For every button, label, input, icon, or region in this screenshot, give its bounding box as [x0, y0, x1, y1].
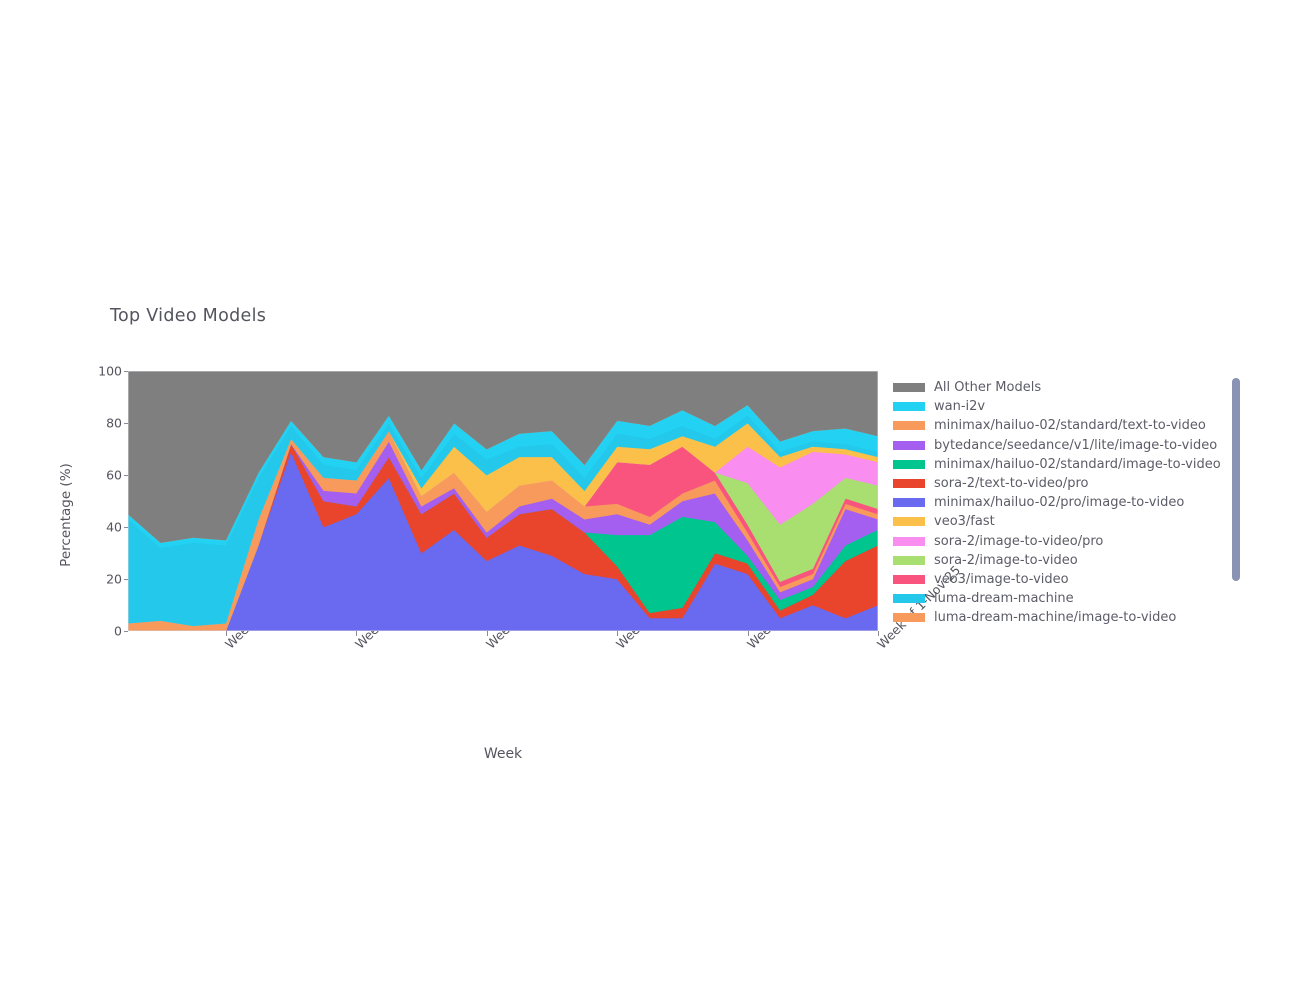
stacked-area-plot — [128, 371, 878, 631]
y-tick-label: 40 — [106, 520, 122, 535]
y-axis-ticks: 020406080100 — [88, 0, 122, 995]
x-tick-mark — [878, 631, 879, 636]
legend-item-label: minimax/hailuo-02/pro/image-to-video — [934, 496, 1184, 509]
y-tick-label: 80 — [106, 416, 122, 431]
y-tick-mark — [124, 475, 128, 476]
legend-item-label: minimax/hailuo-02/standard/text-to-video — [934, 419, 1206, 432]
legend-item-label: luma-dream-machine/image-to-video — [934, 611, 1176, 624]
legend-color-swatch — [893, 556, 925, 565]
legend-color-swatch — [893, 498, 925, 507]
legend-item[interactable]: veo3/image-to-video — [893, 570, 1241, 589]
legend-item[interactable]: luma-dream-machine/image-to-video — [893, 608, 1241, 627]
plot-area — [128, 371, 878, 631]
y-axis-title: Percentage (%) — [58, 430, 74, 600]
legend-color-swatch — [893, 383, 925, 392]
legend-color-swatch — [893, 537, 925, 546]
legend-color-swatch — [893, 441, 925, 450]
legend-item[interactable]: minimax/hailuo-02/pro/image-to-video — [893, 493, 1241, 512]
legend-item[interactable]: All Other Models — [893, 378, 1241, 397]
legend-item[interactable]: luma-dream-machine — [893, 589, 1241, 608]
x-tick-mark — [226, 631, 227, 636]
legend-item[interactable]: sora-2/image-to-video — [893, 551, 1241, 570]
y-tick-label: 100 — [98, 364, 122, 379]
y-tick-mark — [124, 527, 128, 528]
y-tick-label: 20 — [106, 572, 122, 587]
legend-item[interactable]: bytedance/seedance/v1/lite/image-to-vide… — [893, 436, 1241, 455]
legend-scrollbar-thumb[interactable] — [1232, 378, 1240, 581]
legend-item[interactable]: wan-i2v — [893, 397, 1241, 416]
y-tick-mark — [124, 579, 128, 580]
legend-item-label: sora-2/image-to-video — [934, 554, 1078, 567]
x-tick-mark — [748, 631, 749, 636]
x-tick-mark — [617, 631, 618, 636]
legend-item[interactable]: minimax/hailuo-02/standard/image-to-vide… — [893, 455, 1241, 474]
legend-item-label: sora-2/image-to-video/pro — [934, 535, 1103, 548]
legend-color-swatch — [893, 575, 925, 584]
legend-item[interactable]: veo3/fast — [893, 512, 1241, 531]
legend-item[interactable]: minimax/hailuo-02/standard/text-to-video — [893, 416, 1241, 435]
chart-legend: All Other Modelswan-i2vminimax/hailuo-02… — [893, 378, 1241, 630]
y-tick-label: 0 — [114, 624, 122, 639]
x-axis-title: Week — [403, 746, 603, 762]
legend-color-swatch — [893, 517, 925, 526]
legend-item-label: bytedance/seedance/v1/lite/image-to-vide… — [934, 439, 1217, 452]
legend-item-label: minimax/hailuo-02/standard/image-to-vide… — [934, 458, 1221, 471]
x-tick-mark — [356, 631, 357, 636]
y-tick-label: 60 — [106, 468, 122, 483]
legend-item[interactable]: sora-2/image-to-video/pro — [893, 532, 1241, 551]
legend-color-swatch — [893, 479, 925, 488]
legend-color-swatch — [893, 613, 925, 622]
legend-color-swatch — [893, 460, 925, 469]
y-tick-mark — [124, 423, 128, 424]
legend-color-swatch — [893, 421, 925, 430]
legend-item-label: All Other Models — [934, 381, 1041, 394]
legend-item[interactable]: sora-2/text-to-video/pro — [893, 474, 1241, 493]
legend-color-swatch — [893, 594, 925, 603]
y-tick-mark — [124, 371, 128, 372]
legend-item-label: veo3/image-to-video — [934, 573, 1069, 586]
legend-item[interactable]: bytedance/seedance/v1/pro/image-to-video — [893, 627, 1241, 630]
page-title: Top Video Models — [110, 306, 266, 326]
x-tick-mark — [487, 631, 488, 636]
y-tick-mark — [124, 631, 128, 632]
legend-item-label: sora-2/text-to-video/pro — [934, 477, 1089, 490]
chart-figure: Top Video Models Percentage (%) Week 020… — [0, 0, 1310, 995]
legend-color-swatch — [893, 402, 925, 411]
legend-item-label: wan-i2v — [934, 400, 985, 413]
legend-item-label: luma-dream-machine — [934, 592, 1074, 605]
legend-item-label: veo3/fast — [934, 515, 995, 528]
